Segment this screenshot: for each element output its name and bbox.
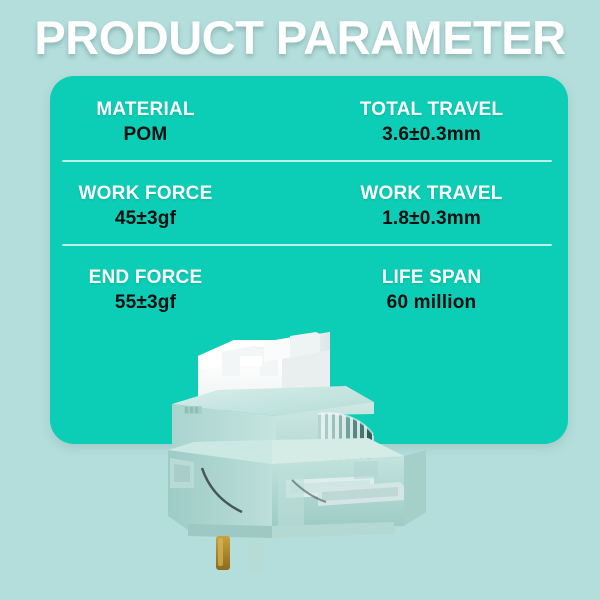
spec-label: WORK FORCE xyxy=(50,182,241,206)
spec-cell-end-force: END FORCE 55±3gf xyxy=(50,266,309,316)
spec-cell-total-travel: TOTAL TRAVEL 3.6±0.3mm xyxy=(309,98,568,148)
spec-label: MATERIAL xyxy=(50,98,241,122)
spec-cell-life-span: LIFE SPAN 60 million xyxy=(309,266,568,316)
spec-cell-work-force: WORK FORCE 45±3gf xyxy=(50,182,309,232)
spec-label: END FORCE xyxy=(50,266,241,290)
spec-cell-work-travel: WORK TRAVEL 1.8±0.3mm xyxy=(309,182,568,232)
spec-label: LIFE SPAN xyxy=(309,266,554,290)
row-divider-1 xyxy=(62,160,552,162)
spec-value: 1.8±0.3mm xyxy=(309,206,554,232)
spec-label: WORK TRAVEL xyxy=(309,182,554,206)
keyboard-switch-icon xyxy=(168,330,443,578)
product-parameter-card: PRODUCT PARAMETER MATERIAL POM TOTAL TRA… xyxy=(0,0,600,600)
spec-value: 3.6±0.3mm xyxy=(309,122,554,148)
spec-value: 55±3gf xyxy=(50,290,241,316)
switch-pins xyxy=(188,522,394,574)
spec-row: END FORCE 55±3gf LIFE SPAN 60 million xyxy=(50,266,568,316)
spec-value: 60 million xyxy=(309,290,554,316)
row-divider-2 xyxy=(62,244,552,246)
spec-value: 45±3gf xyxy=(50,206,241,232)
page-title: PRODUCT PARAMETER xyxy=(0,10,600,66)
spec-label: TOTAL TRAVEL xyxy=(309,98,554,122)
switch-base xyxy=(168,438,426,530)
spec-row: MATERIAL POM TOTAL TRAVEL 3.6±0.3mm xyxy=(50,98,568,148)
switch-product-image xyxy=(168,330,443,578)
spec-value: POM xyxy=(50,122,241,148)
spec-cell-material: MATERIAL POM xyxy=(50,98,309,148)
spec-row: WORK FORCE 45±3gf WORK TRAVEL 1.8±0.3mm xyxy=(50,182,568,232)
